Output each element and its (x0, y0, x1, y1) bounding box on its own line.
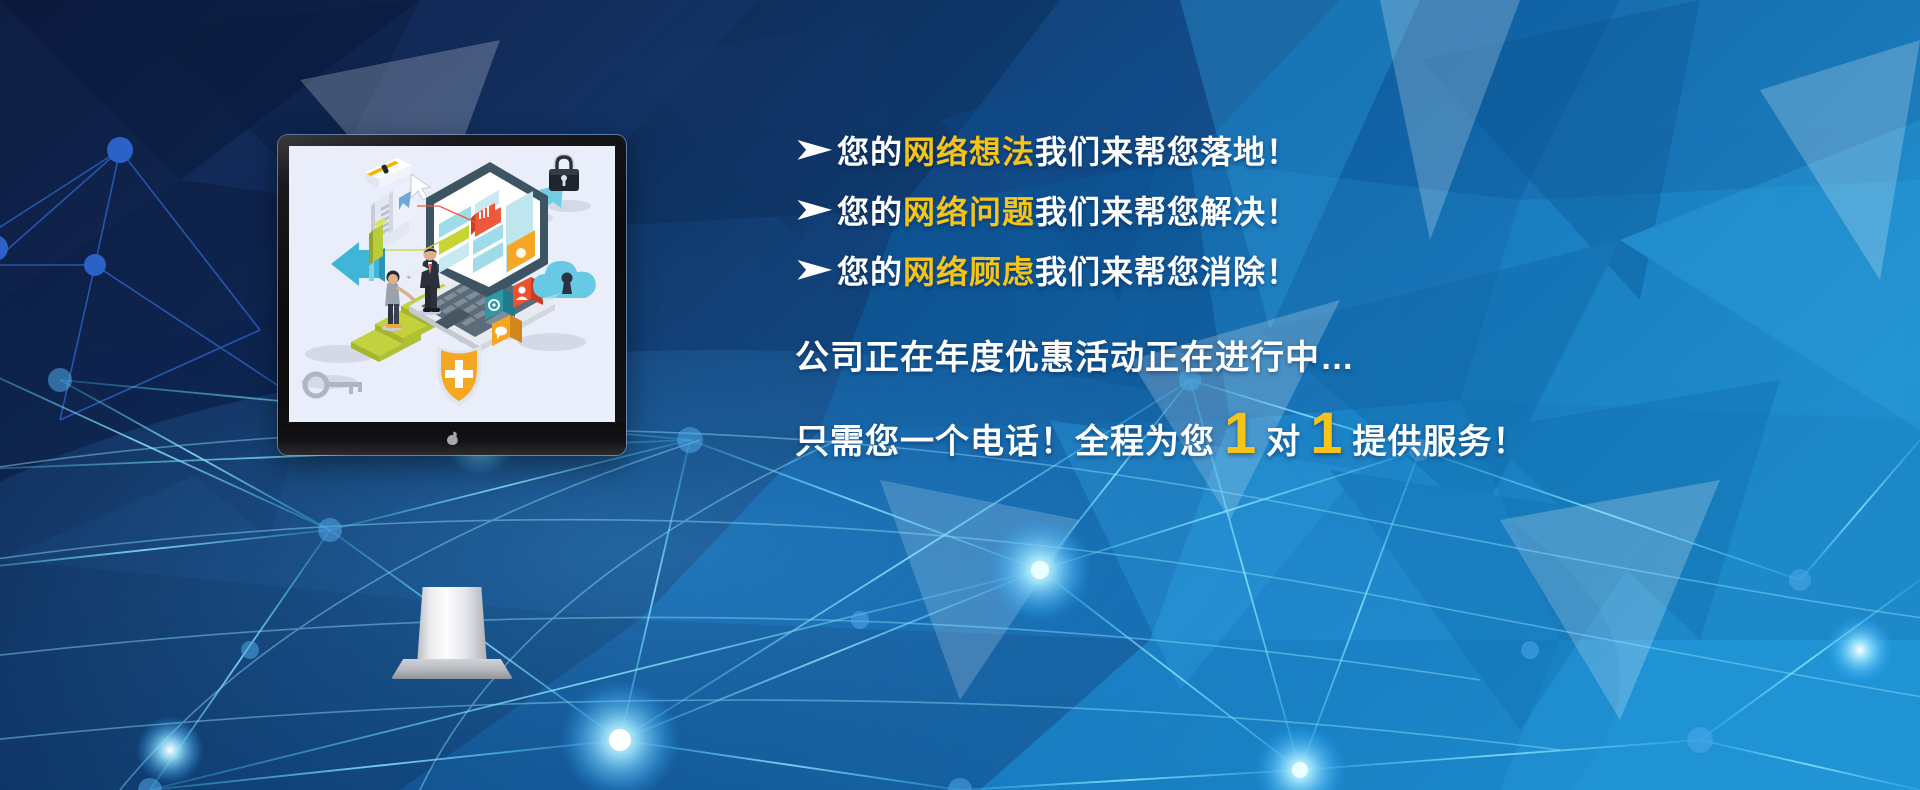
monitor-chin (278, 422, 626, 455)
monitor-base (391, 659, 513, 679)
marketing-copy: 您的网络想法我们来帮您落地！ 您的网络问题我们来帮您解决！ 您的网络顾虑我们来帮… (795, 120, 1855, 463)
monitor-screen (289, 146, 615, 422)
monitor-illustration (278, 135, 626, 455)
arrow-bullet-icon (795, 195, 837, 225)
bullet-text-3: 您的网络顾虑我们来帮您消除！ (837, 247, 1299, 293)
monitor-neck (417, 587, 487, 665)
bullet-highlight-2: 网络问题 (903, 194, 1035, 230)
cta-line: 只需您一个电话！全程为您 1 对 1 提供服务！ (795, 411, 1855, 463)
bullet-highlight-3: 网络顾虑 (903, 254, 1035, 290)
cta-number-first: 1 (1215, 411, 1266, 457)
cta-middle: 对 (1266, 414, 1301, 463)
monitor-frame (278, 135, 626, 455)
arrow-bullet-icon (795, 135, 837, 165)
cta-lead: 只需您一个电话！全程为您 (795, 414, 1215, 463)
apple-logo-icon (447, 432, 458, 445)
bullet-item-2: 您的网络问题我们来帮您解决！ (795, 180, 1855, 240)
bullet-item-3: 您的网络顾虑我们来帮您消除！ (795, 240, 1855, 300)
bullet-text-1: 您的网络想法我们来帮您落地！ (837, 127, 1299, 173)
isometric-scene (289, 146, 615, 422)
promo-tagline: 公司正在年度优惠活动正在进行中… (795, 330, 1855, 379)
cta-trail: 提供服务！ (1353, 414, 1528, 463)
bullet-item-1: 您的网络想法我们来帮您落地！ (795, 120, 1855, 180)
bullet-text-2: 您的网络问题我们来帮您解决！ (837, 187, 1299, 233)
bullet-highlight-1: 网络想法 (903, 134, 1035, 170)
arrow-bullet-icon (795, 255, 837, 285)
cta-number-second: 1 (1301, 411, 1352, 457)
promo-banner: 您的网络想法我们来帮您落地！ 您的网络问题我们来帮您解决！ 您的网络顾虑我们来帮… (0, 0, 1920, 790)
